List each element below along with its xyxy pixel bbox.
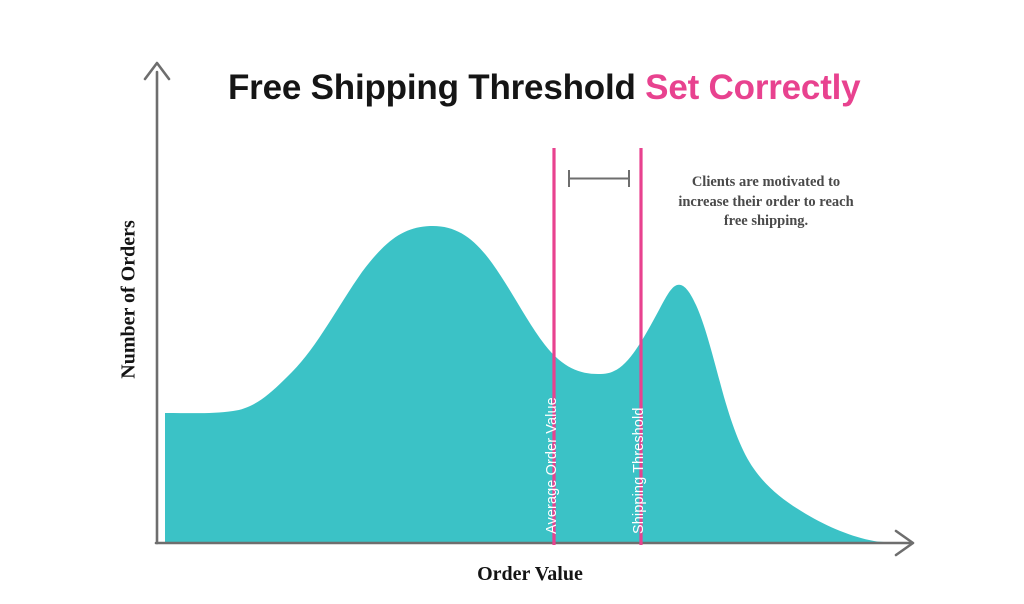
annotation-note: Clients are motivated to increase their … — [655, 173, 877, 232]
annotation-line-1: Clients are motivated to — [655, 173, 877, 193]
page-title: Free Shipping Threshold Set Correctly — [228, 70, 860, 105]
title-main-text: Free Shipping Threshold — [228, 68, 645, 107]
title-accent-text: Set Correctly — [645, 68, 860, 107]
y-axis-title: Number of Orders — [118, 170, 141, 430]
annotation-line-3: free shipping. — [655, 212, 877, 232]
order-distribution-area — [165, 226, 889, 542]
average-order-value-label: Average Order Value — [544, 397, 560, 534]
annotation-line-2: increase their order to reach — [655, 193, 877, 213]
gap-measure-bracket — [569, 170, 629, 187]
shipping-threshold-label: Shipping Threshold — [631, 408, 647, 534]
x-axis-title: Order Value — [410, 563, 650, 586]
chart-figure: Free Shipping Threshold Set Correctly Nu… — [0, 0, 1024, 604]
